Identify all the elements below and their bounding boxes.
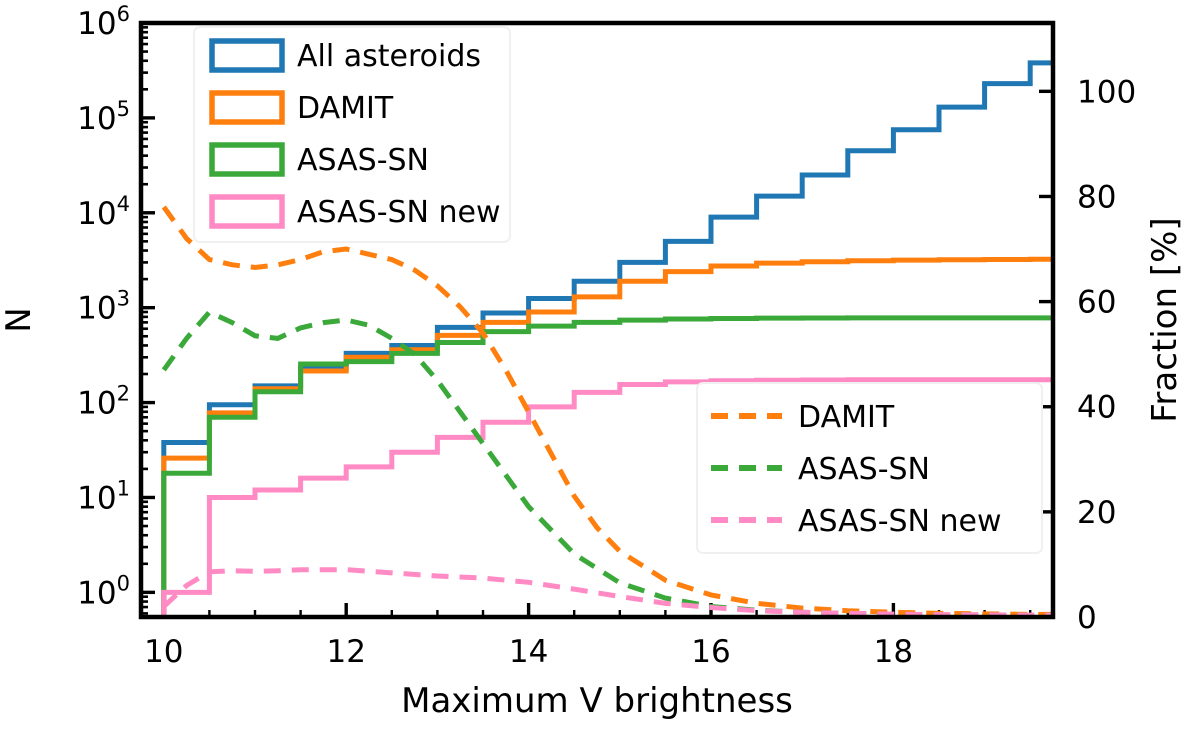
y-axis-tick-label-right: 100: [1077, 74, 1136, 110]
x-axis-tick-label: 16: [691, 634, 730, 670]
y-axis-tick-label-right: 0: [1077, 600, 1097, 636]
figure: 1001011021031041051061012141618020406080…: [0, 0, 1200, 734]
legend-counts-label-0: All asteroids: [297, 39, 481, 74]
chart-canvas: 1001011021031041051061012141618020406080…: [0, 0, 1200, 734]
legend-fraction-label-2: ASAS-SN new: [798, 504, 1002, 539]
legend-counts-label-1: DAMIT: [297, 91, 394, 126]
y-axis-tick-label-right: 20: [1077, 495, 1116, 531]
y-axis-tick-label-right: 60: [1077, 285, 1116, 321]
legend-fraction-label-0: DAMIT: [798, 400, 895, 435]
legend-fraction-label-1: ASAS-SN: [798, 452, 930, 487]
legend-counts-label-3: ASAS-SN new: [297, 195, 501, 230]
x-axis-tick-label: 12: [326, 634, 365, 670]
y-axis-tick-label-right: 80: [1077, 179, 1116, 215]
figure-background: [0, 0, 1200, 734]
x-axis-title: Maximum V brightness: [401, 681, 793, 721]
y-axis-title-left: N: [0, 307, 39, 332]
legend-counts-label-2: ASAS-SN: [297, 143, 429, 178]
x-axis-tick-label: 10: [144, 634, 183, 670]
x-axis-tick-label: 18: [874, 634, 913, 670]
x-axis-tick-label: 14: [509, 634, 548, 670]
y-axis-tick-label-right: 40: [1077, 390, 1116, 426]
y-axis-title-right: Fraction [%]: [1145, 217, 1185, 422]
